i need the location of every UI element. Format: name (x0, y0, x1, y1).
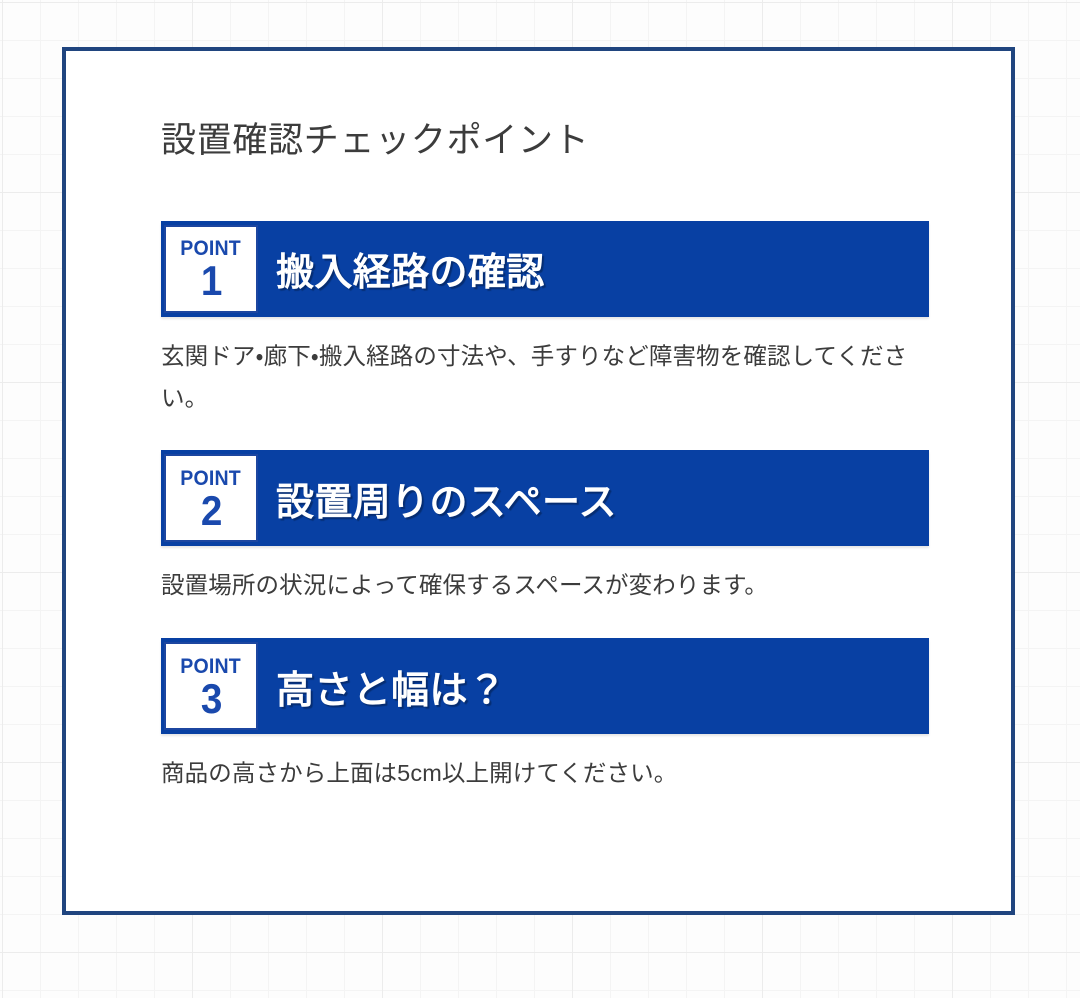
point-badge-label-3: POINT (181, 656, 242, 677)
point-badge-number-2: 2 (200, 490, 221, 531)
point-block-1: POINT 1 搬入経路の確認 玄関ドア・廊下・搬入経路の寸法や、手すりなど障害… (161, 221, 929, 420)
point-badge-3: POINT 3 (164, 642, 258, 730)
point-title-1: 搬入経路の確認 (276, 241, 545, 296)
page-background: 設置確認チェックポイント POINT 1 搬入経路の確認 玄関ドア・廊下・搬入経… (0, 0, 1080, 998)
card-content: 設置確認チェックポイント POINT 1 搬入経路の確認 玄関ドア・廊下・搬入経… (161, 119, 929, 795)
point-badge-2: POINT 2 (164, 454, 258, 542)
point-badge-number-1: 1 (200, 260, 221, 301)
page-title: 設置確認チェックポイント (161, 119, 929, 163)
point-title-3: 高さと幅は？ (276, 659, 506, 714)
point-description-2: 設置場所の状況によって確保するスペースが変わります。 (161, 565, 929, 607)
point-block-2: POINT 2 設置周りのスペース 設置場所の状況によって確保するスペースが変わ… (161, 450, 929, 607)
point-title-2: 設置周りのスペース (276, 471, 617, 526)
point-badge-1: POINT 1 (164, 225, 258, 313)
point-badge-number-3: 3 (200, 678, 221, 719)
point-bar-3: POINT 3 高さと幅は？ (161, 638, 929, 734)
point-badge-label-1: POINT (181, 238, 242, 259)
checkpoint-card: 設置確認チェックポイント POINT 1 搬入経路の確認 玄関ドア・廊下・搬入経… (62, 47, 1015, 915)
point-bar-1: POINT 1 搬入経路の確認 (161, 221, 929, 317)
point-bar-2: POINT 2 設置周りのスペース (161, 450, 929, 546)
point-description-1: 玄関ドア・廊下・搬入経路の寸法や、手すりなど障害物を確認してください。 (161, 336, 929, 420)
point-block-3: POINT 3 高さと幅は？ 商品の高さから上面は5cm以上開けてください。 (161, 638, 929, 795)
point-badge-label-2: POINT (181, 468, 242, 489)
point-description-3: 商品の高さから上面は5cm以上開けてください。 (161, 753, 929, 795)
